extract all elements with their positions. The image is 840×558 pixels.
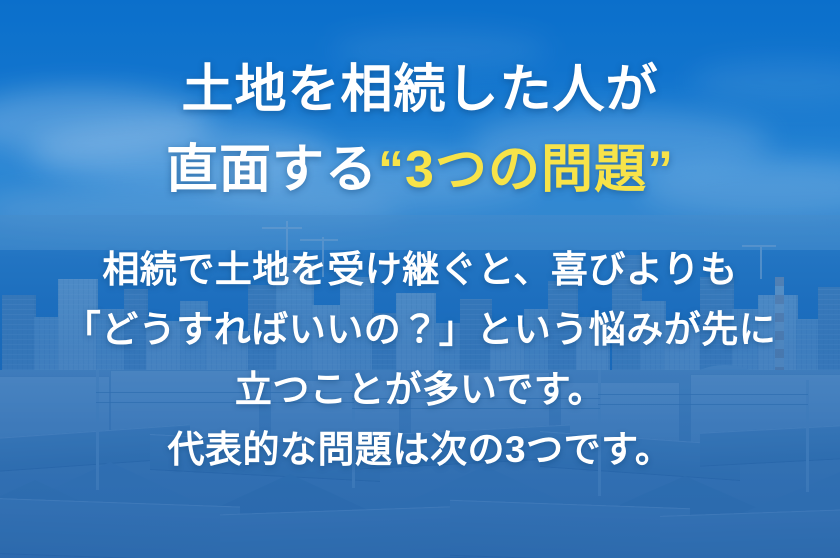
body-line: 相続で土地を受け継ぐと、喜びよりも — [0, 240, 840, 300]
body-line: 代表的な問題は次の3つです。 — [0, 420, 840, 480]
headline-line-1: 土地を相続した人が — [0, 64, 840, 116]
headline-line-1-text: 土地を相続した人が — [181, 61, 658, 119]
body-paragraph: 相続で土地を受け継ぐと、喜びよりも 「どうすればいいの？」という悩みが先に 立つ… — [0, 240, 840, 480]
headline-accent-phrase: “3つの問題” — [378, 141, 674, 199]
slide-canvas: 土地を相続した人が 直面する“3つの問題” 相続で土地を受け継ぐと、喜びよりも … — [0, 0, 840, 558]
headline-line-2: 直面する“3つの問題” — [0, 144, 840, 196]
body-line: 「どうすればいいの？」という悩みが先に — [0, 300, 840, 360]
body-line: 立つことが多いです。 — [0, 360, 840, 420]
slide-content: 土地を相続した人が 直面する“3つの問題” 相続で土地を受け継ぐと、喜びよりも … — [0, 0, 840, 558]
headline-line-2-prefix: 直面する — [166, 141, 378, 199]
